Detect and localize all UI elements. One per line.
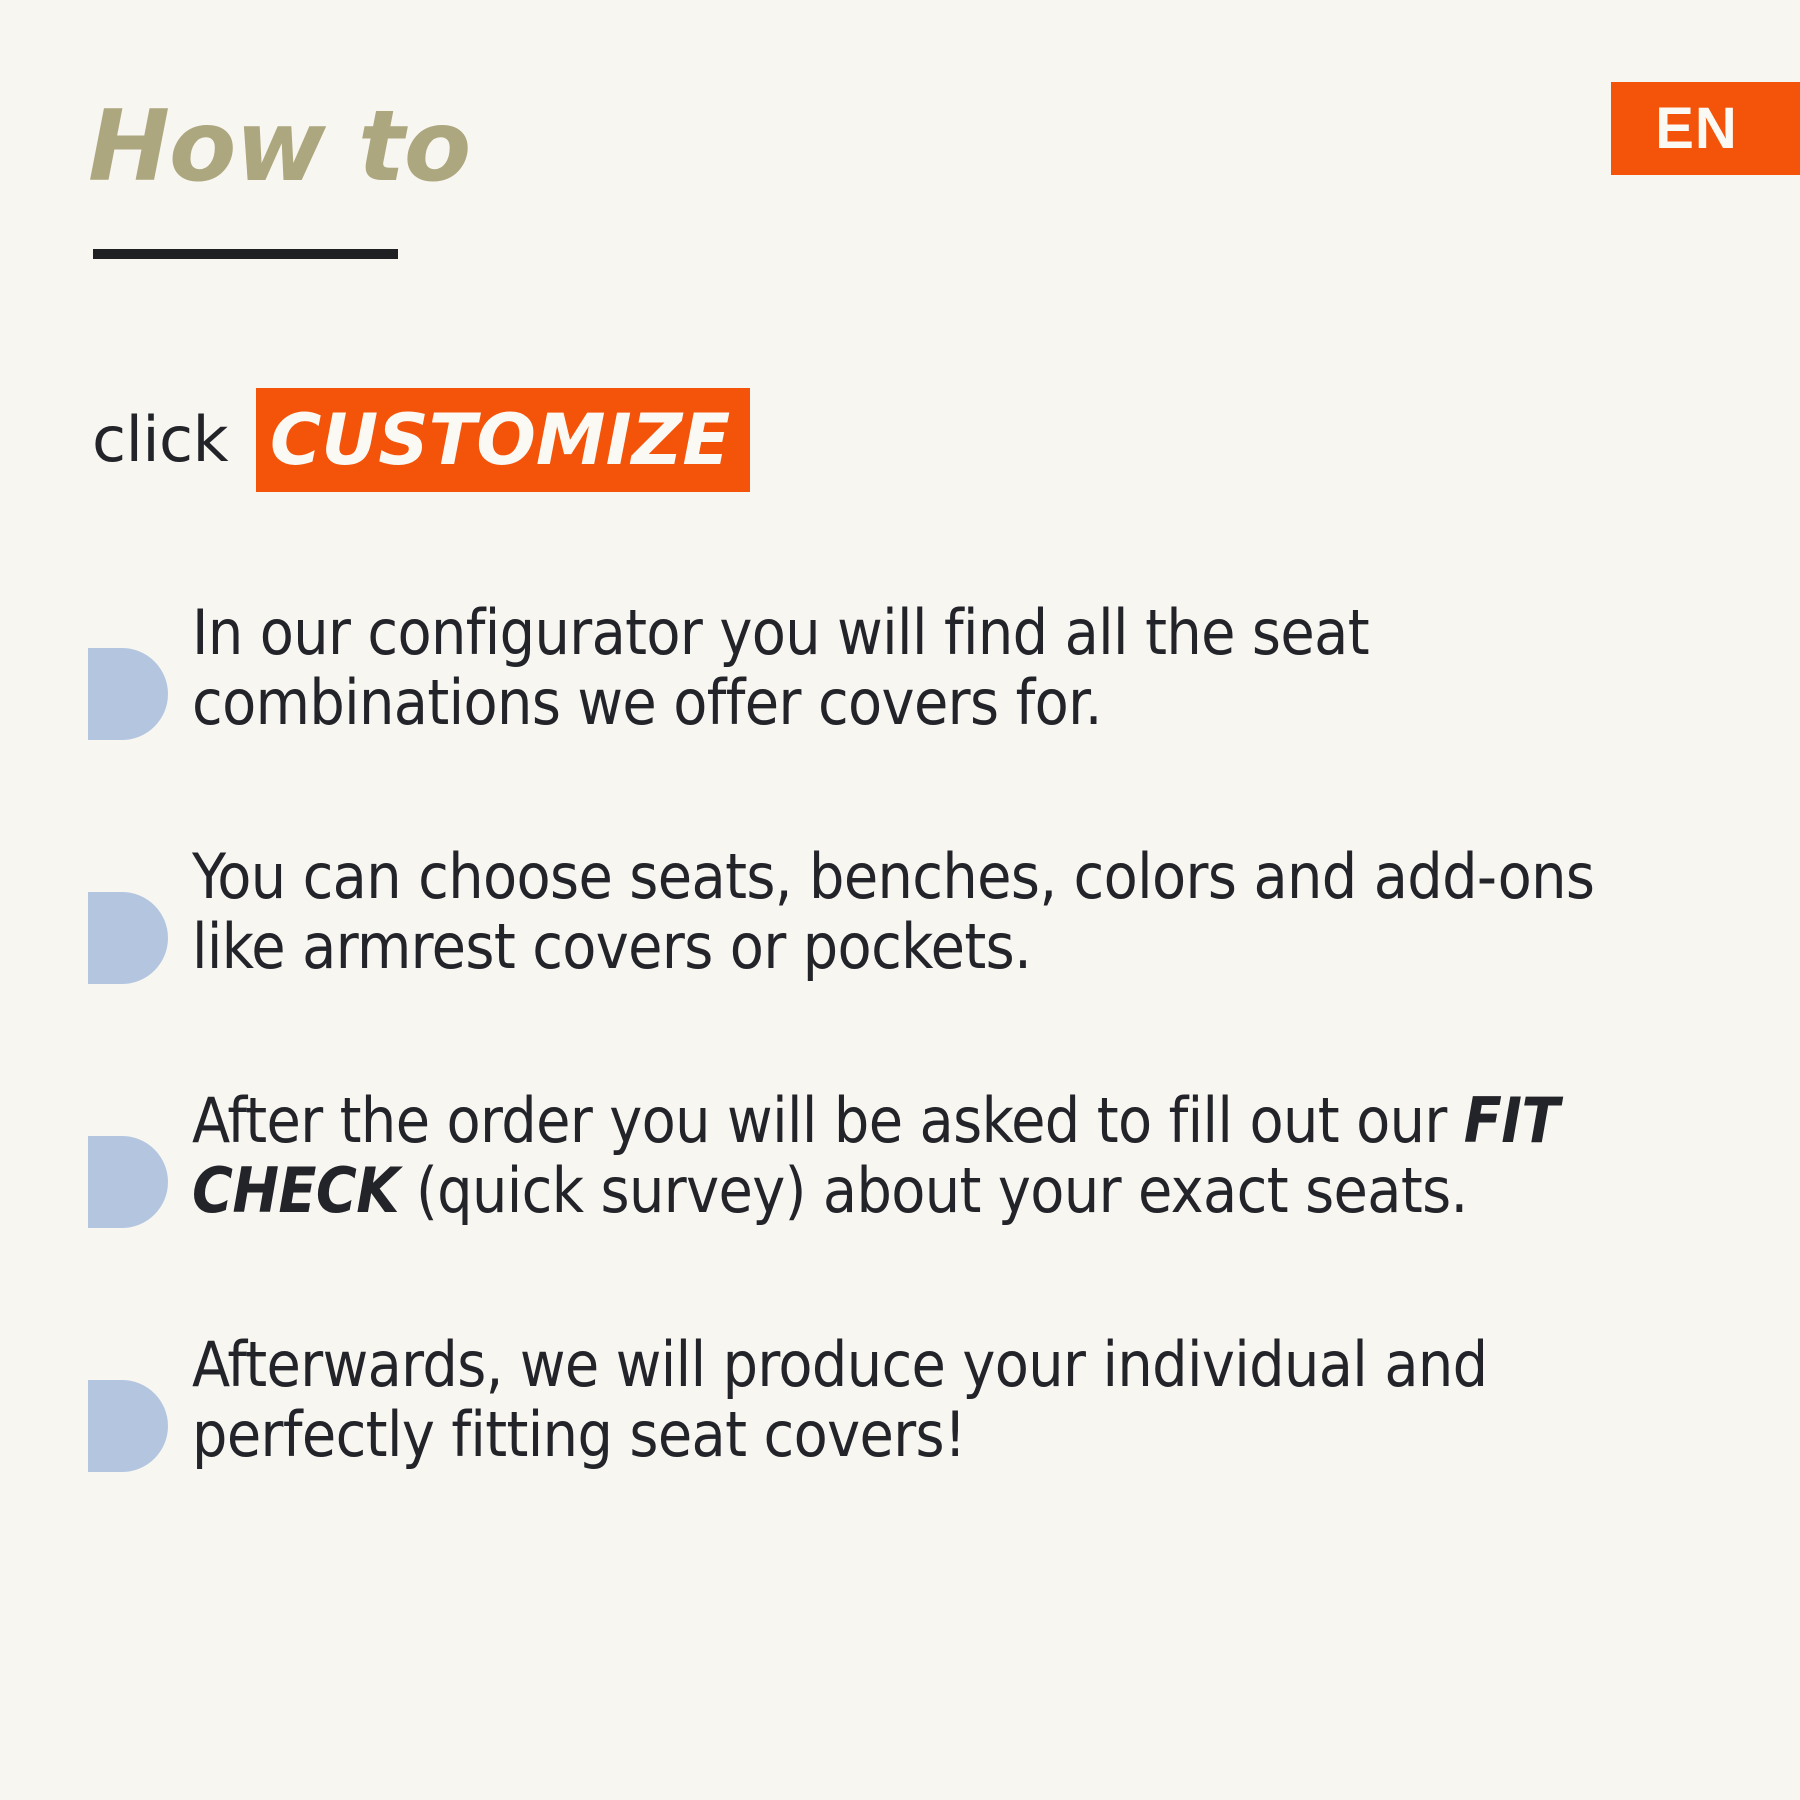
list-item: After the order you will be asked to fil…	[88, 1086, 1678, 1228]
bullet-d-shape-icon	[88, 892, 168, 984]
bullet-d-shape-icon	[88, 1380, 168, 1472]
customize-button[interactable]: CUSTOMIZE	[256, 388, 750, 492]
list-item-text: Afterwards, we will produce your individ…	[192, 1330, 1622, 1470]
header: How to	[88, 96, 470, 259]
list-item-lead: You can choose seats, benches, colors an…	[192, 840, 1594, 983]
list-item-lead: Afterwards, we will produce your individ…	[192, 1328, 1487, 1471]
instruction-list: In our configurator you will find all th…	[88, 598, 1678, 1472]
list-item-text: After the order you will be asked to fil…	[192, 1086, 1622, 1226]
cta-instruction: click CUSTOMIZE	[92, 388, 750, 492]
list-item-text: In our configurator you will find all th…	[192, 598, 1622, 738]
list-item-tail: (quick survey) about your exact seats.	[399, 1154, 1468, 1227]
bullet-d-shape-icon	[88, 648, 168, 740]
cta-prefix-label: click	[92, 409, 256, 471]
list-item-lead: After the order you will be asked to fil…	[192, 1084, 1464, 1157]
language-badge[interactable]: EN	[1611, 82, 1800, 175]
list-item-text: You can choose seats, benches, colors an…	[192, 842, 1622, 982]
list-item-lead: In our configurator you will find all th…	[192, 596, 1369, 739]
list-item: Afterwards, we will produce your individ…	[88, 1330, 1678, 1472]
title-underline-rule	[93, 249, 398, 259]
language-badge-label: EN	[1655, 100, 1738, 158]
list-item: You can choose seats, benches, colors an…	[88, 842, 1678, 984]
list-item: In our configurator you will find all th…	[88, 598, 1678, 740]
bullet-d-shape-icon	[88, 1136, 168, 1228]
page-title: How to	[88, 96, 470, 199]
